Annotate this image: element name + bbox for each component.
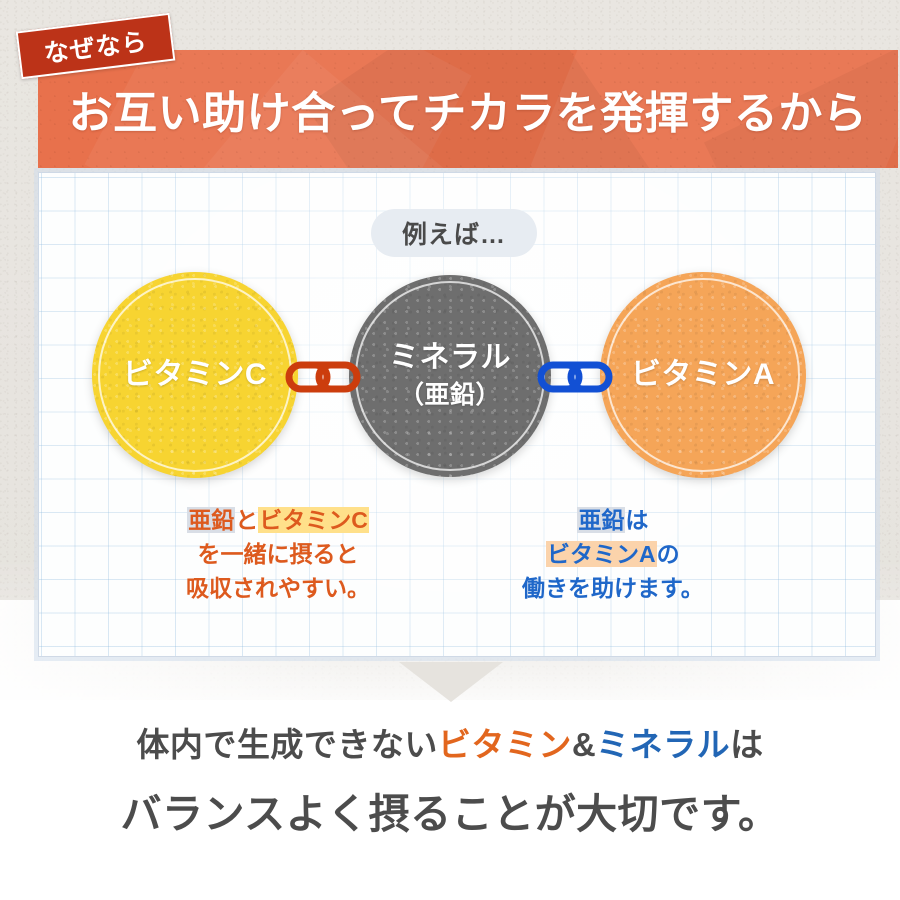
caption-right-line1: 亜鉛は xyxy=(522,503,704,537)
footer-message: 体内で生成できないビタミン&ミネラルは バランスよく摂ることが大切です。 xyxy=(0,718,900,840)
footer-ampersand: & xyxy=(572,726,596,763)
caption-right-line3: 働きを助けます。 xyxy=(522,571,704,605)
bubble-vitamin-c-label: ビタミンC xyxy=(123,358,267,393)
header-title: お互い助け合ってチカラを発揮するから xyxy=(38,50,898,168)
caption-right-highlight-vita: ビタミンA xyxy=(546,541,657,567)
caption-left-highlight-vitc: ビタミンC xyxy=(258,507,369,533)
down-arrow-icon xyxy=(399,662,503,702)
caption-right-line2: ビタミンAの xyxy=(522,537,704,571)
bubble-vitamin-a: ビタミンA xyxy=(600,272,806,478)
example-pill: 例えば… xyxy=(371,209,537,257)
caption-right-particle: は xyxy=(625,507,648,533)
bubble-mineral-zinc: ミネラル （亜鉛） xyxy=(349,275,551,477)
footer-line-2: バランスよく摂ることが大切です。 xyxy=(0,780,900,840)
chain-link-icon-left xyxy=(285,357,361,397)
bubble-vitamin-a-label: ビタミンA xyxy=(631,358,775,393)
footer-line-1: 体内で生成できないビタミン&ミネラルは xyxy=(0,718,900,766)
caption-left-line1: 亜鉛とビタミンC xyxy=(186,503,370,537)
footer-accent-vitamin: ビタミン xyxy=(438,726,572,763)
footer-line1-suffix: は xyxy=(730,726,764,763)
caption-left-line2: を一緒に摂ると xyxy=(186,537,370,571)
bubble-grain-texture xyxy=(349,275,551,477)
footer-line1-prefix: 体内で生成できない xyxy=(136,726,438,763)
chain-link-icon-right xyxy=(537,357,613,397)
caption-left-line3: 吸収されやすい。 xyxy=(186,571,370,605)
caption-right-particle-2: の xyxy=(657,541,680,567)
header-banner: お互い助け合ってチカラを発揮するから xyxy=(38,50,898,168)
footer-accent-mineral: ミネラル xyxy=(596,726,730,763)
caption-right-highlight-zinc: 亜鉛 xyxy=(577,507,625,533)
caption-left: 亜鉛とビタミンC を一緒に摂ると 吸収されやすい。 xyxy=(186,503,370,605)
caption-right: 亜鉛は ビタミンAの 働きを助けます。 xyxy=(522,503,704,605)
caption-left-conj: と xyxy=(235,507,258,533)
bubble-mineral-label: ミネラル xyxy=(389,341,511,376)
caption-left-highlight-zinc: 亜鉛 xyxy=(187,507,235,533)
infographic-canvas: お互い助け合ってチカラを発揮するから なぜなら 例えば… ビタミンC ミネラル … xyxy=(0,0,900,900)
bubble-mineral-sublabel: （亜鉛） xyxy=(399,379,501,412)
bubble-vitamin-c: ビタミンC xyxy=(92,272,298,478)
